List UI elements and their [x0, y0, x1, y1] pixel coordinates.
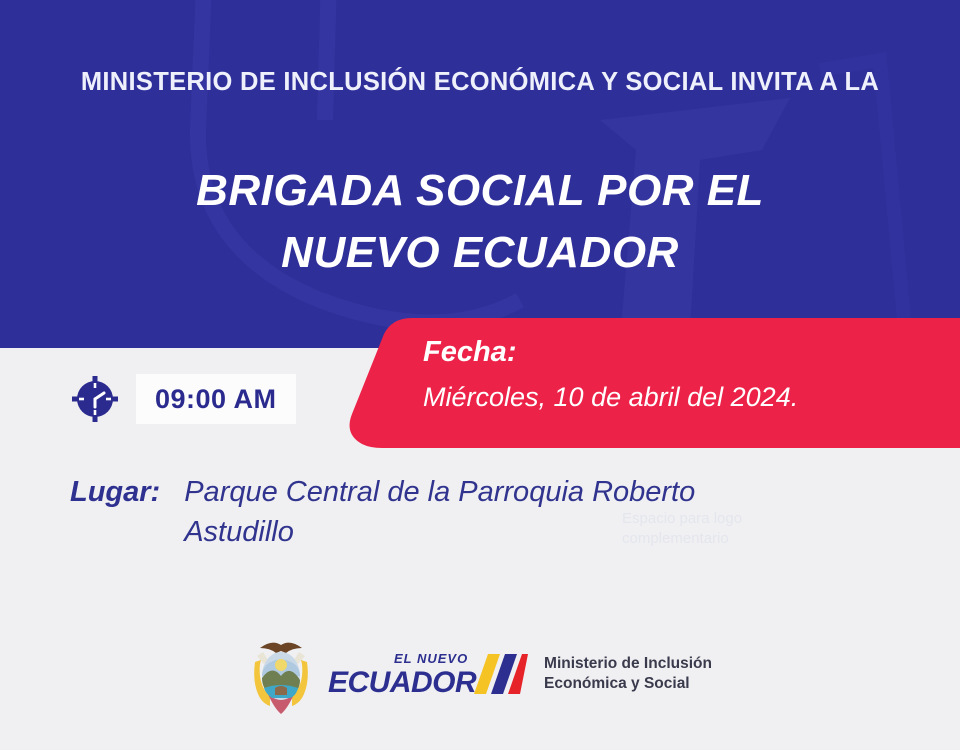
title-line-1: BRIGADA SOCIAL POR EL: [0, 160, 960, 222]
time-badge: 09:00 AM: [136, 374, 296, 424]
footer-logo-lockup: EL NUEVO ECUADOR Ministerio de Inclusión…: [0, 632, 960, 716]
date-banner-text: Fecha: Miércoles, 10 de abril del 2024.: [423, 335, 798, 413]
ministry-name: Ministerio de Inclusión Económica y Soci…: [544, 654, 712, 695]
title-line-2: NUEVO ECUADOR: [0, 222, 960, 284]
header-blue-panel: MINISTERIO DE INCLUSIÓN ECONÓMICA Y SOCI…: [0, 0, 960, 348]
date-value: Miércoles, 10 de abril del 2024.: [423, 381, 798, 413]
el-nuevo-ecuador-wordmark: EL NUEVO ECUADOR: [328, 644, 528, 704]
place-label: Lugar:: [70, 472, 160, 512]
svg-text:EL NUEVO: EL NUEVO: [394, 651, 468, 666]
invitation-kicker: MINISTERIO DE INCLUSIÓN ECONÓMICA Y SOCI…: [0, 68, 960, 97]
svg-text:ECUADOR: ECUADOR: [328, 666, 477, 699]
date-label: Fecha:: [423, 335, 798, 370]
ministry-line-2: Económica y Social: [544, 674, 712, 694]
date-banner: Fecha: Miércoles, 10 de abril del 2024.: [348, 318, 960, 448]
page-title: BRIGADA SOCIAL POR EL NUEVO ECUADOR: [0, 160, 960, 285]
clock-icon: [70, 374, 120, 424]
time-row: 09:00 AM: [70, 374, 296, 424]
poster-canvas: MINISTERIO DE INCLUSIÓN ECONÓMICA Y SOCI…: [0, 0, 960, 750]
ecuador-coat-of-arms-icon: [248, 632, 314, 716]
logo-placeholder-watermark: Espacio para logo complementario: [622, 509, 802, 550]
ministry-line-1: Ministerio de Inclusión: [544, 654, 712, 674]
